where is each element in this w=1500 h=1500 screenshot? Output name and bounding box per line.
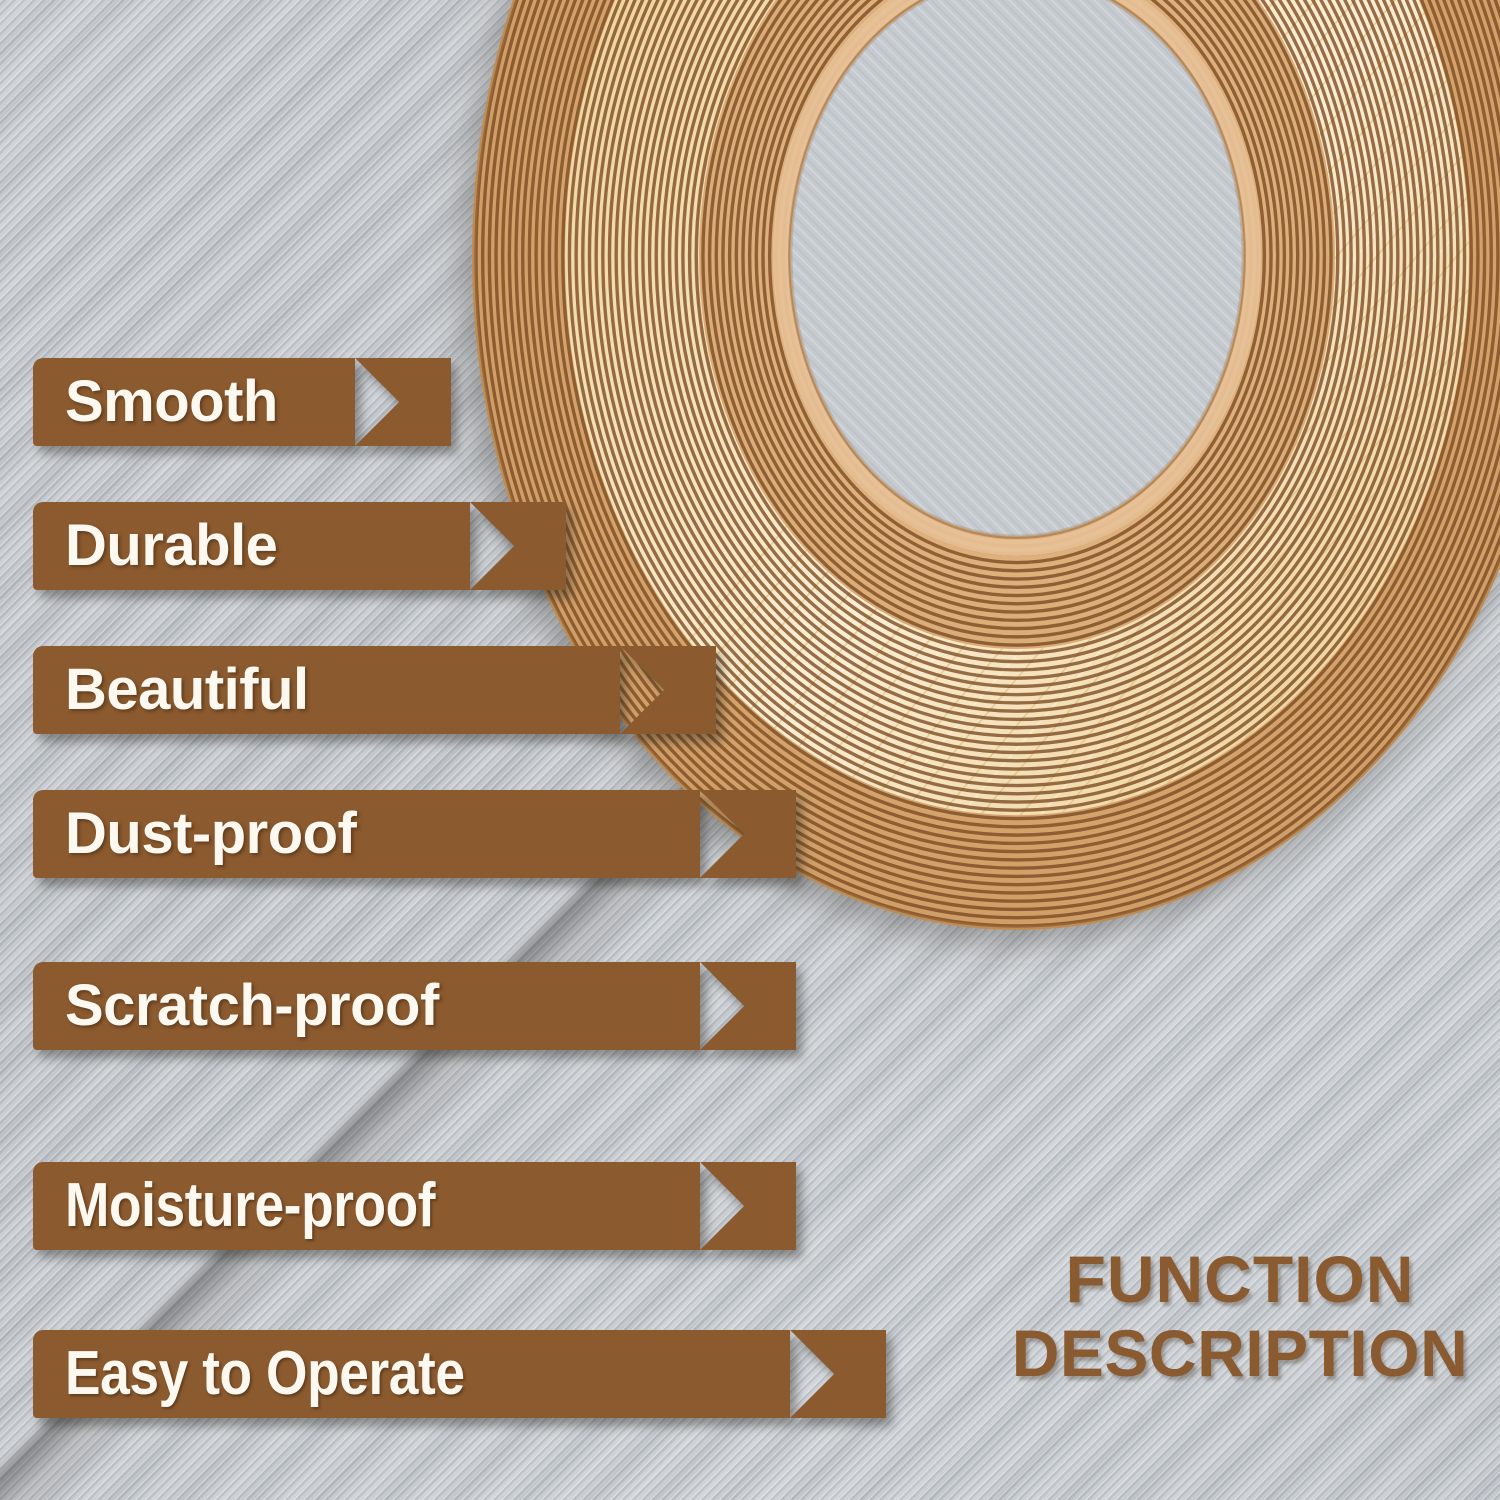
feature-banner: Dust-proof xyxy=(33,790,700,878)
feature-banner: Moisture-proof xyxy=(33,1162,700,1250)
section-heading: FUNCTION DESCRIPTION xyxy=(1005,1243,1475,1391)
feature-banner-label: Beautiful xyxy=(65,661,309,719)
feature-banner: Easy to Operate xyxy=(33,1330,790,1418)
feature-banner-label: Durable xyxy=(65,517,277,575)
feature-banner-label: Scratch-proof xyxy=(65,977,439,1035)
heading-line-2: DESCRIPTION xyxy=(1005,1317,1475,1391)
feature-banner-label: Smooth xyxy=(65,373,278,431)
feature-banner-label: Easy to Operate xyxy=(65,1343,465,1405)
feature-banner: Durable xyxy=(33,502,470,590)
heading-line-1: FUNCTION xyxy=(1005,1243,1475,1317)
feature-banner-label: Dust-proof xyxy=(65,805,356,863)
feature-banner: Smooth xyxy=(33,358,355,446)
feature-banner-label: Moisture-proof xyxy=(65,1175,435,1237)
product-feature-graphic: SmoothDurableBeautifulDust-proofScratch-… xyxy=(0,0,1500,1500)
feature-banner: Scratch-proof xyxy=(33,962,700,1050)
feature-banner: Beautiful xyxy=(33,646,620,734)
